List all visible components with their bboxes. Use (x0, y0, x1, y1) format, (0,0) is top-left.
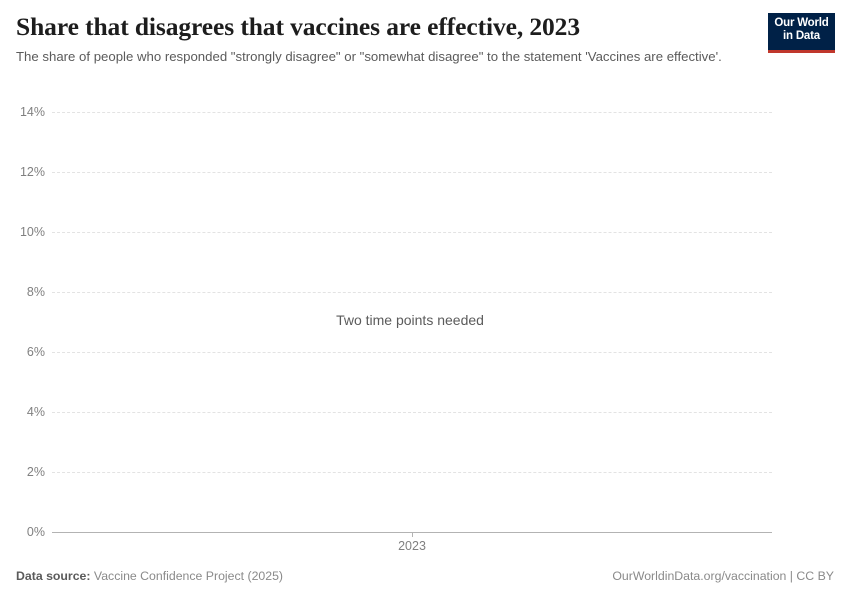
y-axis-tick-label: 0% (0, 526, 45, 538)
x-axis-tick-label: 2023 (362, 539, 462, 553)
y-axis-tick-label: 8% (0, 286, 45, 298)
gridline (52, 352, 772, 353)
data-source-label: Data source: (16, 569, 91, 583)
gridline (52, 412, 772, 413)
empty-state-message: Two time points needed (210, 312, 610, 328)
chart-plot-area[interactable]: 14%12%10%8%6%4%2%0% 2023 Two time points… (0, 0, 850, 600)
gridline (52, 472, 772, 473)
y-axis-tick-label: 2% (0, 466, 45, 478)
y-axis-tick-label: 12% (0, 166, 45, 178)
y-axis-tick-label: 6% (0, 346, 45, 358)
attribution-footer[interactable]: OurWorldinData.org/vaccination | CC BY (612, 569, 834, 583)
y-axis-tick-label: 4% (0, 406, 45, 418)
x-axis-tick-mark (412, 532, 413, 537)
gridline (52, 292, 772, 293)
data-source-footer: Data source: Vaccine Confidence Project … (16, 569, 283, 583)
gridline (52, 172, 772, 173)
gridline (52, 232, 772, 233)
y-axis-tick-label: 14% (0, 106, 45, 118)
gridline (52, 112, 772, 113)
data-source-value: Vaccine Confidence Project (2025) (91, 569, 284, 583)
y-axis-tick-label: 10% (0, 226, 45, 238)
